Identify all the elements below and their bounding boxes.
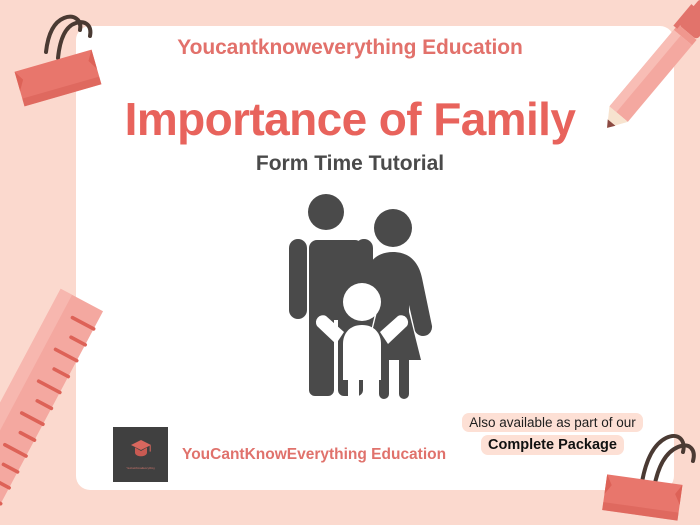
slide-canvas: Youcantknoweverything Education Importan… — [0, 0, 700, 525]
family-illustration — [280, 192, 460, 400]
brand-logo: YouCantKnowEverything — [113, 427, 168, 482]
logo-caption: YouCantKnowEverything — [115, 467, 166, 470]
page-subtitle: Form Time Tutorial — [0, 152, 700, 176]
footer-brand-text: YouCantKnowEverything Education — [182, 446, 446, 464]
graduation-cap-icon — [129, 437, 153, 461]
binder-clip-top-left-icon — [2, 4, 114, 116]
pencil-top-right-icon — [598, 0, 700, 150]
ruler-bottom-left-icon — [0, 316, 112, 525]
binder-clip-bottom-right-icon — [596, 408, 700, 525]
footer-brand: YouCantKnowEverything YouCantKnowEveryth… — [113, 427, 446, 482]
